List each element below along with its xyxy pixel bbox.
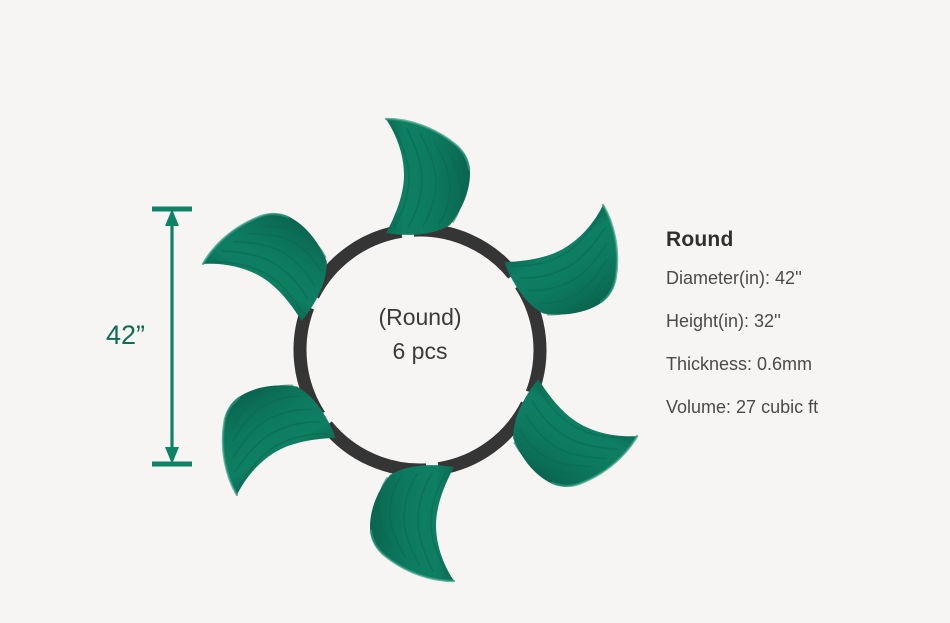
spec-row-height: Height(in): 32'' xyxy=(666,311,928,332)
diagram-canvas: (Round) 6 pcs 42” Round Diameter(in): 42… xyxy=(0,0,950,623)
spec-panel: Round Diameter(in): 42'' Height(in): 32'… xyxy=(666,228,928,418)
spec-row-volume: Volume: 27 cubic ft xyxy=(666,397,928,418)
panel-top xyxy=(386,119,470,235)
panel-bottom-right xyxy=(495,378,637,509)
panel-top-right xyxy=(503,205,645,336)
ring-center-line2: 6 pcs xyxy=(320,334,520,368)
panel-bottom xyxy=(370,465,454,581)
spec-title: Round xyxy=(666,228,928,252)
ring-arc xyxy=(327,425,427,470)
ring-center-label: (Round) 6 pcs xyxy=(320,300,520,368)
panel-bottom-left xyxy=(195,364,337,495)
ring-center-line1: (Round) xyxy=(320,300,520,334)
spec-row-thickness: Thickness: 0.6mm xyxy=(666,354,928,375)
dimension-label: 42” xyxy=(106,320,145,351)
dimension-line xyxy=(152,209,192,464)
dimension-arrow-down xyxy=(165,447,179,464)
ring-arc xyxy=(414,230,514,275)
dimension-arrow-up xyxy=(165,209,179,226)
spec-row-diameter: Diameter(in): 42'' xyxy=(666,268,928,289)
